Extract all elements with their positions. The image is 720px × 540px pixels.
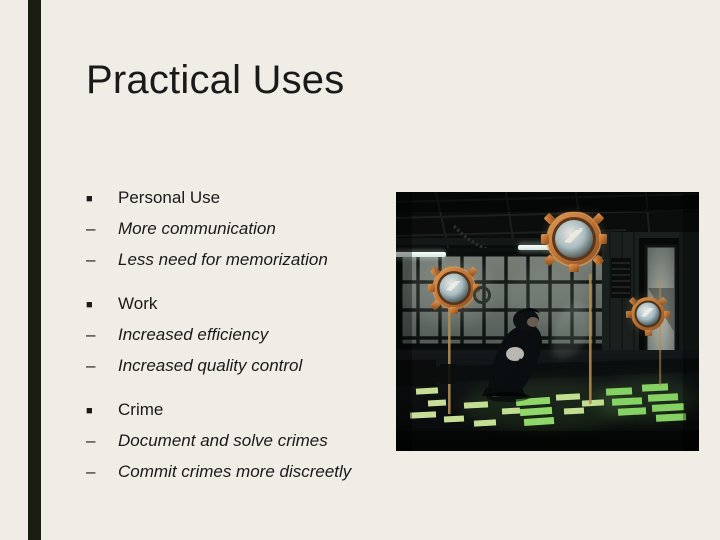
square-bullet-icon: ■ [86, 398, 118, 424]
slide-image [396, 192, 699, 451]
dash-bullet-icon: – [86, 217, 118, 241]
list-item-label: Increased quality control [118, 354, 386, 378]
dash-bullet-icon: – [86, 354, 118, 378]
list-item: ■ Work [86, 292, 386, 323]
list-item-label: Personal Use [118, 186, 386, 210]
dash-bullet-icon: – [86, 248, 118, 272]
list-item-label: More communication [118, 217, 386, 241]
list-item-label: Increased efficiency [118, 323, 386, 347]
list-item-label: Document and solve crimes [118, 429, 386, 453]
list-item: ■ Crime [86, 398, 386, 429]
dash-bullet-icon: – [86, 460, 118, 484]
left-accent-bar [28, 0, 41, 540]
list-item-label: Less need for memorization [118, 248, 386, 272]
dash-bullet-icon: – [86, 429, 118, 453]
list-item: – Increased efficiency [86, 323, 386, 354]
dash-bullet-icon: – [86, 323, 118, 347]
list-item: – Less need for memorization [86, 248, 386, 279]
list-item: – Document and solve crimes [86, 429, 386, 460]
bullet-list: ■ Personal Use – More communication – Le… [86, 186, 386, 491]
square-bullet-icon: ■ [86, 292, 118, 318]
square-bullet-icon: ■ [86, 186, 118, 212]
list-item: ■ Personal Use [86, 186, 386, 217]
slide: Practical Uses ■ Personal Use – More com… [0, 0, 720, 540]
page-title: Practical Uses [86, 56, 646, 104]
list-item-label: Work [118, 292, 386, 316]
list-item-label: Crime [118, 398, 386, 422]
list-item: – Increased quality control [86, 354, 386, 385]
list-item-label: Commit crimes more discreetly [118, 460, 386, 484]
list-item: – More communication [86, 217, 386, 248]
list-item: – Commit crimes more discreetly [86, 460, 386, 491]
